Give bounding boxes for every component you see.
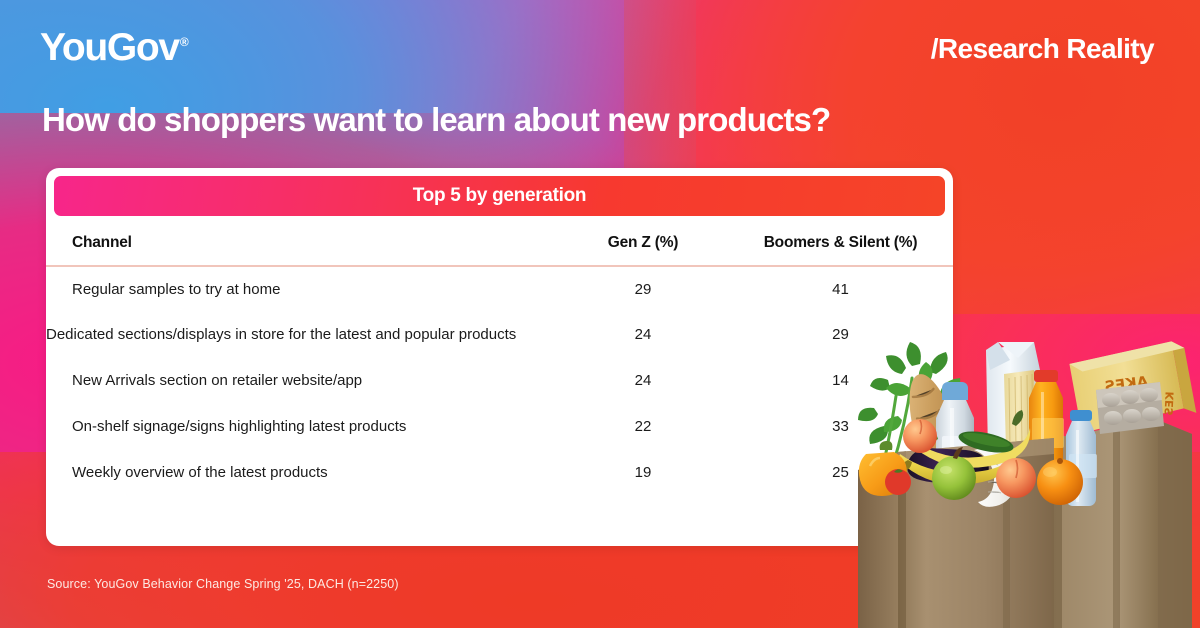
- table-header-row: Channel Gen Z (%) Boomers & Silent (%): [46, 224, 953, 266]
- cell-channel: Weekly overview of the latest products: [46, 450, 558, 496]
- cell-channel: Regular samples to try at home: [46, 266, 558, 313]
- cell-gen-z: 24: [558, 313, 728, 357]
- column-header-gen-z: Gen Z (%): [558, 224, 728, 266]
- source-note: Source: YouGov Behavior Change Spring '2…: [47, 577, 399, 591]
- cell-channel: On-shelf signage/signs highlighting late…: [46, 404, 558, 450]
- registered-trademark-icon: ®: [180, 35, 189, 49]
- yougov-logo-text: YouGov: [40, 26, 179, 69]
- cell-gen-z: 24: [558, 358, 728, 404]
- cell-boomers: 25: [728, 450, 953, 496]
- generation-table: Channel Gen Z (%) Boomers & Silent (%) R…: [46, 224, 953, 496]
- header-bar: YouGov® /Research Reality: [0, 0, 1200, 86]
- table-body: Regular samples to try at home 29 41 Ded…: [46, 266, 953, 496]
- table-row: New Arrivals section on retailer website…: [46, 358, 953, 404]
- card-header-banner: Top 5 by generation: [54, 176, 945, 216]
- cell-boomers: 41: [728, 266, 953, 313]
- column-header-channel: Channel: [46, 224, 558, 266]
- cell-channel: New Arrivals section on retailer website…: [46, 358, 558, 404]
- cell-boomers: 29: [728, 313, 953, 357]
- yougov-logo: YouGov®: [40, 28, 189, 67]
- column-header-boomers: Boomers & Silent (%): [728, 224, 953, 266]
- cell-boomers: 14: [728, 358, 953, 404]
- table-row: Regular samples to try at home 29 41: [46, 266, 953, 313]
- cell-gen-z: 19: [558, 450, 728, 496]
- table-head: Channel Gen Z (%) Boomers & Silent (%): [46, 224, 953, 266]
- cell-gen-z: 22: [558, 404, 728, 450]
- page-title: How do shoppers want to learn about new …: [42, 101, 830, 139]
- data-card: Top 5 by generation Channel Gen Z (%) Bo…: [46, 168, 953, 546]
- cell-boomers: 33: [728, 404, 953, 450]
- card-header-title: Top 5 by generation: [413, 185, 586, 207]
- table-row: Dedicated sections/displays in store for…: [46, 313, 953, 357]
- cell-channel: Dedicated sections/displays in store for…: [46, 313, 558, 357]
- cell-gen-z: 29: [558, 266, 728, 313]
- table-row: On-shelf signage/signs highlighting late…: [46, 404, 953, 450]
- table-row: Weekly overview of the latest products 1…: [46, 450, 953, 496]
- research-reality-tagline: /Research Reality: [931, 33, 1154, 65]
